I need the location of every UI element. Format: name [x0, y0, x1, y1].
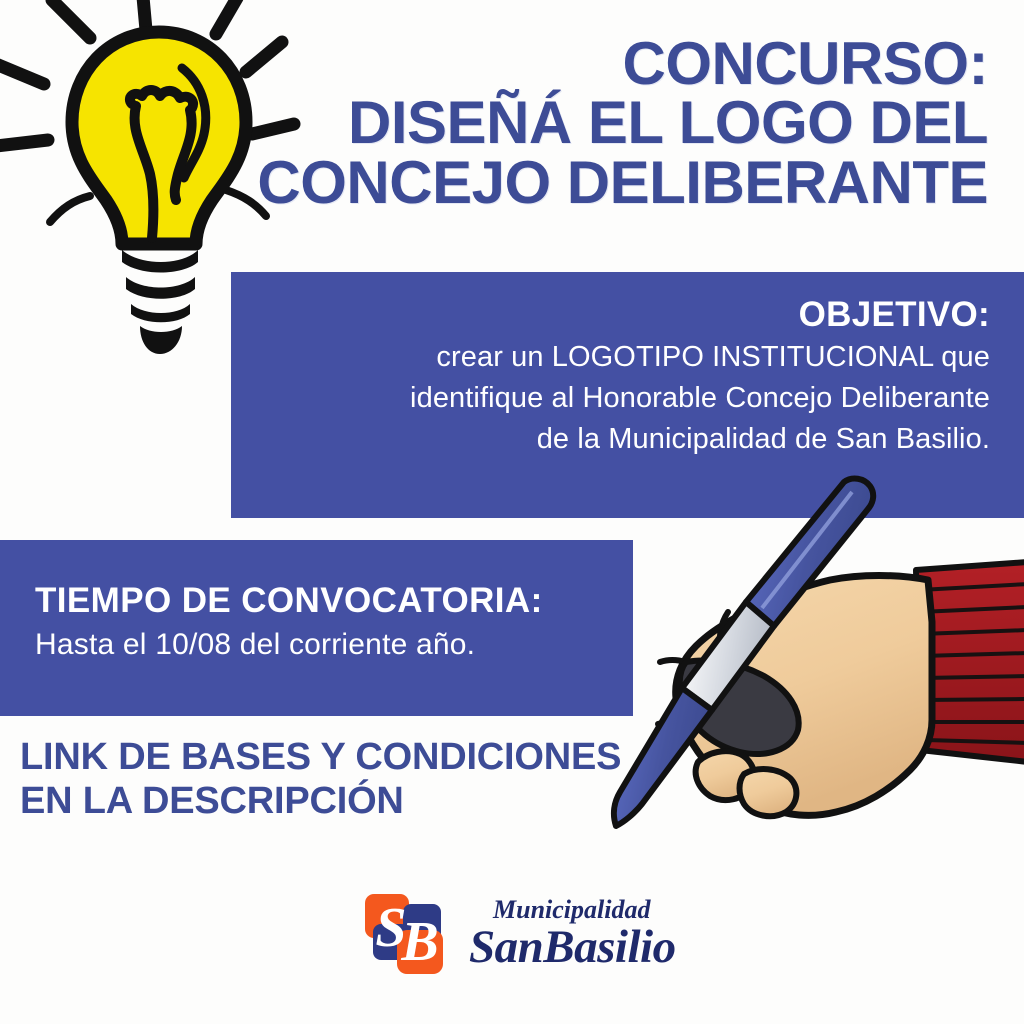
san-basilio-mark-icon: S B: [363, 890, 459, 978]
link-notice: LINK DE BASES Y CONDICIONES EN LA DESCRI…: [20, 735, 680, 824]
convocatoria-deadline: Hasta el 10/08 del corriente año.: [35, 622, 633, 667]
title-line-1: CONCURSO:: [240, 34, 988, 93]
objective-line-1: crear un LOGOTIPO INSTITUCIONAL que: [249, 337, 990, 378]
objective-heading: OBJETIVO:: [249, 294, 990, 337]
link-notice-line-2: EN LA DESCRIPCIÓN: [20, 779, 680, 823]
hand-writing-pen-icon: [598, 462, 1024, 892]
poster-canvas: CONCURSO: DISEÑÁ EL LOGO DEL CONCEJO DEL…: [0, 0, 1024, 1024]
convocatoria-heading: TIEMPO DE CONVOCATORIA:: [35, 580, 633, 622]
brand-wordmark: Municipalidad SanBasilio: [469, 897, 676, 971]
title-line-3: CONCEJO DELIBERANTE: [240, 153, 988, 212]
objective-line-3: de la Municipalidad de San Basilio.: [249, 419, 990, 460]
brand-logo: S B Municipalidad SanBasilio: [363, 888, 673, 980]
objective-line-2: identifique al Honorable Concejo Deliber…: [249, 378, 990, 419]
brand-top-text: Municipalidad: [493, 897, 676, 923]
brand-letter-b: B: [400, 911, 438, 973]
link-notice-line-1: LINK DE BASES Y CONDICIONES: [20, 735, 680, 779]
page-title: CONCURSO: DISEÑÁ EL LOGO DEL CONCEJO DEL…: [240, 34, 988, 212]
convocatoria-panel: TIEMPO DE CONVOCATORIA: Hasta el 10/08 d…: [0, 540, 633, 716]
brand-bottom-text: SanBasilio: [469, 924, 676, 971]
title-line-2: DISEÑÁ EL LOGO DEL: [240, 93, 988, 152]
